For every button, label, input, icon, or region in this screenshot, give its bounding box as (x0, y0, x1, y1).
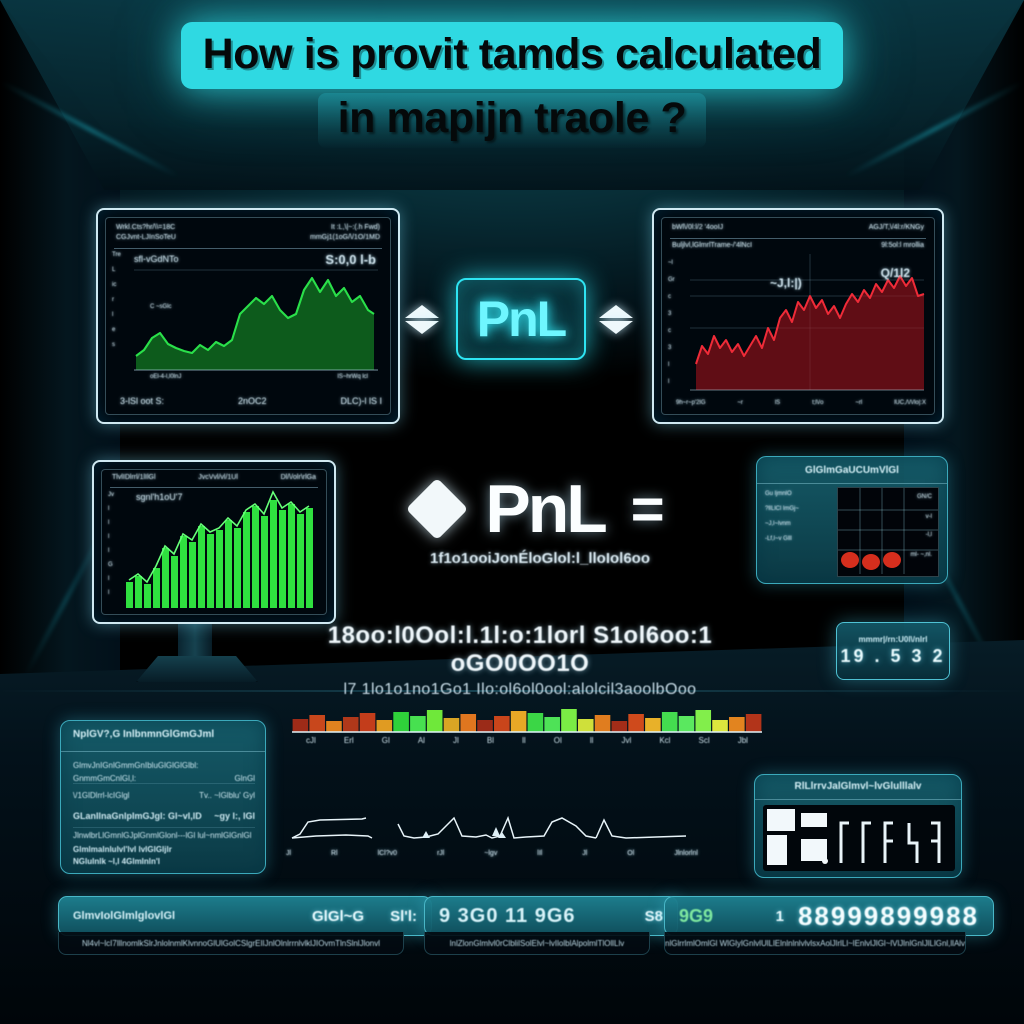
page-title: How is provit tamds calculated in mapijn… (50, 22, 974, 148)
info-row-label: GLanIlnaGnlpImGJgl: Gl~vl,lD (73, 811, 202, 821)
info-row-label: JlnwlbrLlGmnlGJplGnmlGlonl---lGl lul~nml… (73, 831, 251, 840)
bottom-bar-right-caption: nlGlrrlmlOmlGl WlGlylGnlvlUlLlElnlnlnlvl… (664, 932, 966, 955)
updown-arrow-icon-right (598, 302, 634, 336)
line-sparklines (286, 792, 698, 856)
chart-area-monitor (102, 470, 327, 615)
ledger-display (763, 805, 955, 871)
card-value-0: GN/C (917, 494, 932, 500)
panel-loss-curve-red[interactable]: bWl\/0l:l/2 '4ooIJ AGJ/T,\/4l:r/KNGy Bul… (652, 208, 944, 424)
candle-block (712, 720, 728, 732)
panel-summary-info-card[interactable]: NplGV?,G InlbnmnGlGmGJml GlmvJnIGnlGmmGn… (60, 720, 266, 874)
bottom-bar-mid[interactable]: 9 3G0 11 9G6 S8 (424, 896, 678, 936)
panel-foot-right: lS~hrWq lcl (337, 374, 368, 380)
candle-block (578, 719, 594, 732)
card-value-1: v-l (926, 514, 932, 520)
readout-value: 19 . 5 3 2 (840, 646, 945, 667)
candle-block (561, 709, 577, 732)
candle-block (729, 717, 745, 732)
bottom-bar-left[interactable]: GlmvIolGlmlglovlGl GlGl~G Sl'l: (58, 896, 432, 936)
bottom-bar-mid-caption: lnlZlonGlmlvl0rClblilSolElvl~lvIlolblAlp… (424, 932, 650, 955)
updown-arrow-icon-left (404, 302, 440, 336)
bar-label: 9G9 (679, 906, 713, 927)
candle-block (679, 716, 695, 732)
bar-value: Sl'l: (390, 908, 417, 925)
info-row-label: GnmmGmCnlGl,l: (73, 774, 136, 783)
candle-tick: ll (522, 736, 526, 750)
candle-block (511, 711, 527, 732)
monitor-base (136, 656, 258, 682)
chart-value-right: Q/1l2 (881, 266, 910, 280)
candle-tick: Kcl (659, 736, 670, 750)
bottom-bar-left-caption: Nl4vl~lcI7lllnomlkSlrJnlolnmlKlvnnoGlUlG… (58, 932, 404, 955)
candle-block (645, 718, 661, 732)
candle-block (343, 717, 359, 732)
card-value-3: ml- ~,nl. (910, 552, 932, 558)
candle-tick: Ol (554, 736, 562, 750)
ledger-glyphs (763, 805, 955, 869)
pnl-badge-label: PnL (477, 290, 565, 348)
candle-tick: Gl (382, 736, 390, 750)
scene-root: How is provit tamds calculated in mapijn… (0, 0, 1024, 1024)
bar-value: S8 (645, 908, 663, 925)
card-labels: Gu ljmnlO ?llLlCl lmGj~ ~J,l~lvnm -Lf,l~… (765, 491, 833, 542)
candle-tick: Bl (487, 736, 494, 750)
bar-value: 1 (776, 908, 784, 925)
candle-block (410, 716, 426, 732)
candle-tick: Al (418, 736, 425, 750)
bar-label: GlmvIolGlmlglovlGl (73, 910, 175, 922)
info-row-value: Tv.. ~lGlblu' Gyl (199, 791, 255, 800)
candle-block (309, 715, 325, 732)
formula-subtitle: 1f1o1ooiJonÉloGlol:l_lloIol6oo (330, 550, 750, 567)
info-row-label: Glmlmalnlulvl'lvl lvlGlGljlr (73, 845, 172, 854)
bar-value: 88999899988 (798, 901, 979, 932)
candle-block (326, 721, 342, 732)
panel-foot-left: oEl-4-l,l0lnJ (150, 374, 181, 380)
chart-value-label: ~J,l:|) (770, 276, 802, 290)
candle-tick: Jvl (621, 736, 631, 750)
candle-block (595, 715, 611, 732)
candle-block (494, 716, 510, 732)
candle-tick: Jbl (738, 736, 748, 750)
chart-area-green (106, 218, 391, 415)
candle-block (528, 713, 544, 732)
sparkline-ticks: Jl Rl lCl?v0 rJl ~lgv lIl Jl Ol Jlnlorln… (286, 850, 698, 857)
candle-strip-ticks: cJlErlGlAlJlBlllOlllJvlKclSclJbl (292, 736, 762, 750)
title-line-2: in mapijn traole ? (318, 93, 707, 148)
info-row-value: GlnGl (235, 774, 255, 783)
info-row-value: ~gy l:, lGl (214, 811, 255, 821)
candle-block (427, 710, 443, 732)
pnl-formula: PnL = 1f1o1ooiJonÉloGlol:l_lloIol6oo (330, 470, 750, 567)
candle-block (360, 713, 376, 732)
formula-equals: = (631, 476, 665, 543)
numeric-caption-line-2: l7 1lo1o1no1Go1 Ilo:ol6ol0ool:alolcil3ao… (290, 681, 750, 699)
candle-tick: cJl (306, 736, 316, 750)
candle-block (393, 712, 409, 732)
diamond-icon (406, 478, 468, 540)
candle-block (662, 712, 678, 732)
x-axis-ticks: 3-lSl oot S: 2nOC2 DLC)-l lS I (120, 396, 382, 406)
candle-block (628, 714, 644, 732)
panel-monitor-green-bars[interactable]: TlvlIDlrrl/1lIlGl JvcVvl/vl/1Ul Dl/\/olr… (92, 460, 336, 624)
candle-block (477, 720, 493, 732)
info-row-label: GlmvJnIGnlGmmGnIbluGlGlGlGlbl: (73, 761, 198, 770)
candle-block (695, 710, 711, 732)
card-grid: GN/C v-l -l,l ml- ~,nl. (837, 487, 939, 577)
candle-tick: ll (590, 736, 594, 750)
readout-label: mmmr|/rn:U0l\/nlrl (859, 635, 928, 644)
bottom-bar-right[interactable]: 9G9 1 88999899988 (664, 896, 994, 936)
pnl-neon-badge[interactable]: PnL (456, 278, 586, 360)
candle-block (544, 717, 560, 732)
card-title: GlGlmGaUCUmVlGl (757, 465, 947, 476)
candle-block (612, 721, 628, 732)
candle-strip[interactable] (292, 708, 762, 738)
info-row-label: NGlulnlk ~l,l 4Glmlnln'l (73, 857, 160, 866)
bar-label: 9 3G0 11 9G6 (439, 905, 576, 928)
candle-tick: Erl (344, 736, 354, 750)
numeric-caption: 18oo:l0Ool:l.1l:o:1lorl S1ol6oo:1 oGO0OO… (290, 622, 750, 699)
panel-grid-card-red-dots[interactable]: GlGlmGaUCUmVlGl Gu ljmnlO ?llLlCl lmGj~ … (756, 456, 948, 584)
candle-block (460, 714, 476, 732)
candle-tick: Scl (699, 736, 710, 750)
bar-value: GlGl~G (312, 908, 364, 925)
panel-equity-curve-green[interactable]: Wrkl.Cts?hr/\\=18C It :L,\|~:(.h Fwd) CG… (96, 208, 400, 424)
chart-area-red (662, 218, 935, 415)
panel-ledger[interactable]: RlLlrrvJalGlmvl~lvGlulllalv (754, 774, 962, 878)
candle-block (377, 720, 393, 732)
info-row-label: \/1GlDlrrl-lcIGlgl (73, 791, 129, 800)
grid-lines (838, 488, 938, 574)
candle-block (293, 719, 309, 732)
formula-word: PnL (485, 470, 604, 548)
candle-block (746, 714, 762, 732)
x-axis-ticks: 9h~r~p'2lG ~r lS t;l\/o ~rl lUC,/\/\/lo|… (676, 400, 926, 406)
card-title: NplGV?,G InlbnmnGlGmGJml (73, 729, 214, 740)
panel-title: RlLlrrvJalGlmvl~lvGlulllalv (755, 781, 961, 792)
monitor-stand (178, 618, 212, 662)
title-line-1: How is provit tamds calculated (181, 22, 844, 89)
numeric-caption-line-1: 18oo:l0Ool:l.1l:o:1lorl S1ol6oo:1 oGO0OO… (290, 622, 750, 678)
status-readout-badge[interactable]: mmmr|/rn:U0l\/nlrl 19 . 5 3 2 (836, 622, 950, 680)
candle-block (444, 718, 460, 732)
candle-tick: Jl (453, 736, 459, 750)
card-value-2: -l,l (926, 532, 932, 538)
